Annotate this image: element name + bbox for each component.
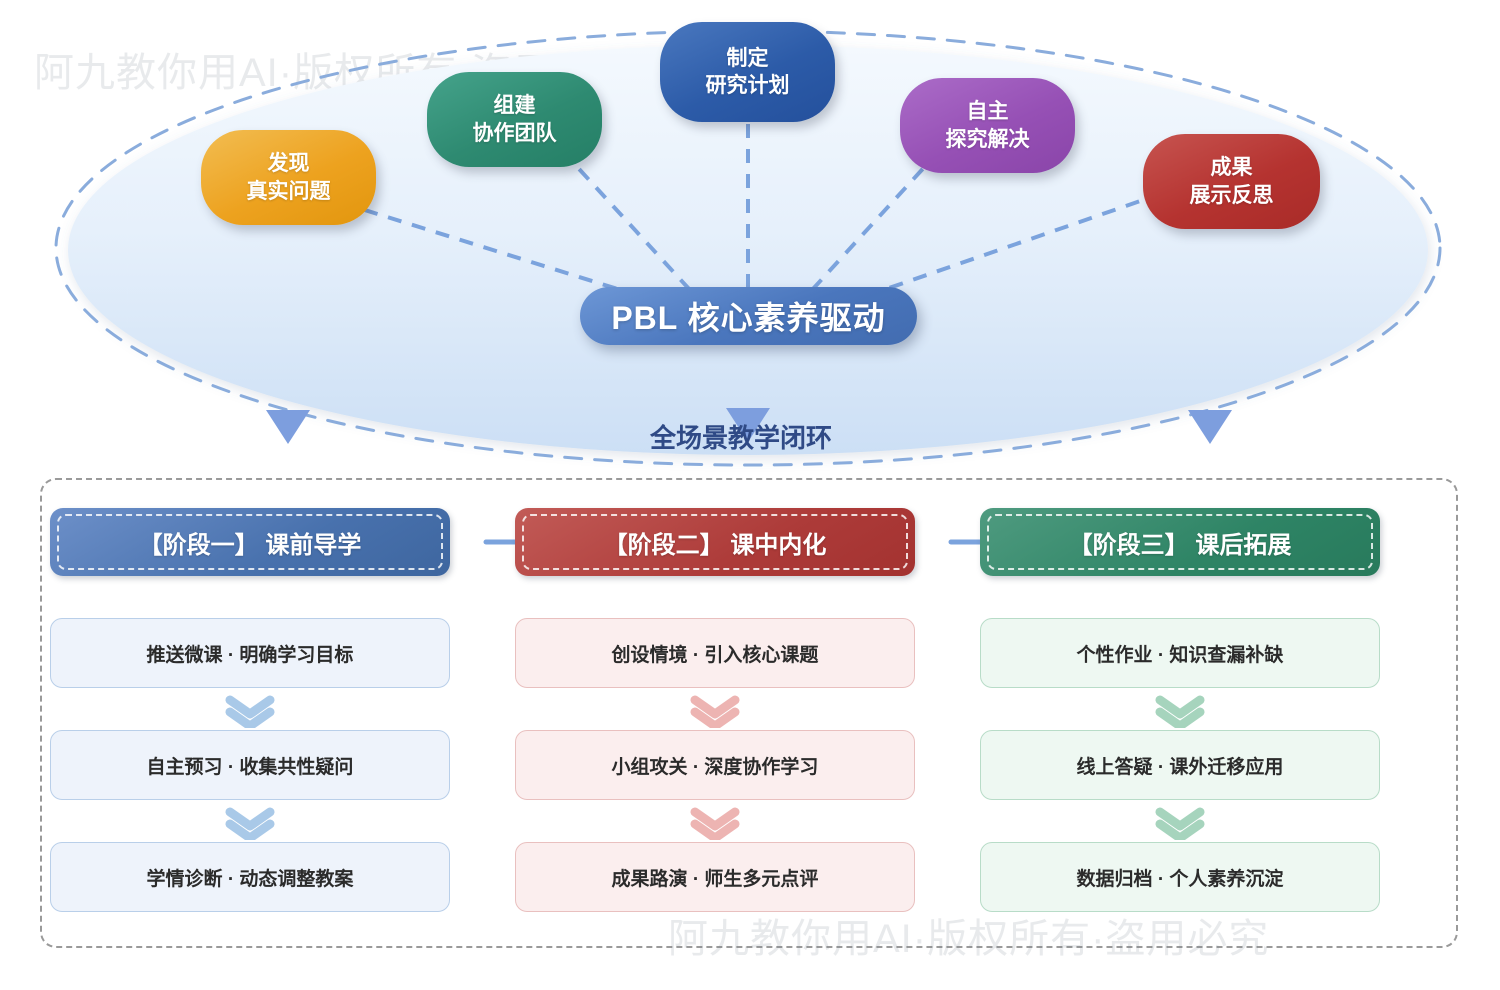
stage-header-post-class[interactable]: 【阶段三】 课后拓展 bbox=[980, 508, 1380, 576]
hub-node-showcase-line1: 成果 bbox=[1211, 154, 1253, 181]
step-post-class-3[interactable]: 数据归档 · 个人素养沉淀 bbox=[980, 842, 1380, 912]
step-in-class-1[interactable]: 创设情境 · 引入核心课题 bbox=[515, 618, 915, 688]
step-in-class-1-label: 创设情境 · 引入核心课题 bbox=[612, 640, 819, 667]
hub-center-node[interactable]: PBL 核心素养驱动 bbox=[580, 287, 917, 345]
hub-node-plan[interactable]: 制定 研究计划 bbox=[660, 22, 835, 122]
hub-node-inquiry[interactable]: 自主 探究解决 bbox=[900, 78, 1075, 173]
step-in-class-3-label: 成果路演 · 师生多元点评 bbox=[612, 864, 819, 891]
step-in-class-2-label: 小组攻关 · 深度协作学习 bbox=[612, 752, 819, 779]
chevron-down-icon bbox=[1152, 694, 1208, 728]
triangle-left bbox=[266, 410, 310, 444]
step-post-class-3-label: 数据归档 · 个人素养沉淀 bbox=[1077, 864, 1284, 891]
hub-node-plan-line2: 研究计划 bbox=[706, 72, 790, 99]
stage-header-pre-class-label: 【阶段一】 课前导学 bbox=[139, 525, 362, 560]
chevron-down-icon bbox=[222, 806, 278, 840]
step-in-class-3[interactable]: 成果路演 · 师生多元点评 bbox=[515, 842, 915, 912]
hub-node-discover[interactable]: 发现 真实问题 bbox=[201, 130, 376, 225]
stage-column-in-class: 【阶段二】 课中内化 创设情境 · 引入核心课题 小组攻关 · 深度协作学习 bbox=[515, 508, 915, 912]
chevron-down-icon bbox=[687, 694, 743, 728]
hub-node-inquiry-line2: 探究解决 bbox=[946, 126, 1030, 153]
chevron-down-icon bbox=[222, 694, 278, 728]
stage-header-pre-class[interactable]: 【阶段一】 课前导学 bbox=[50, 508, 450, 576]
hub-node-discover-line2: 真实问题 bbox=[247, 178, 331, 205]
hub-node-discover-line1: 发现 bbox=[268, 150, 310, 177]
chevron-down-icon bbox=[687, 806, 743, 840]
diagram-canvas: 阿九教你用AI·版权所有·盗用必究 bbox=[0, 0, 1500, 990]
stage-header-in-class[interactable]: 【阶段二】 课中内化 bbox=[515, 508, 915, 576]
step-pre-class-2[interactable]: 自主预习 · 收集共性疑问 bbox=[50, 730, 450, 800]
step-post-class-2[interactable]: 线上答疑 · 课外迁移应用 bbox=[980, 730, 1380, 800]
hub-node-showcase[interactable]: 成果 展示反思 bbox=[1143, 134, 1320, 229]
step-post-class-2-label: 线上答疑 · 课外迁移应用 bbox=[1077, 752, 1284, 779]
stage-column-post-class: 【阶段三】 课后拓展 个性作业 · 知识查漏补缺 线上答疑 · 课外迁移应用 bbox=[980, 508, 1380, 912]
hub-node-plan-line1: 制定 bbox=[727, 45, 769, 72]
flow-columns: 【阶段一】 课前导学 推送微课 · 明确学习目标 自主预习 · 收集共性疑问 bbox=[50, 508, 1450, 912]
hub-node-team-line2: 协作团队 bbox=[473, 120, 557, 147]
step-post-class-1-label: 个性作业 · 知识查漏补缺 bbox=[1077, 640, 1284, 667]
hub-center-label: PBL 核心素养驱动 bbox=[611, 293, 885, 339]
step-post-class-1[interactable]: 个性作业 · 知识查漏补缺 bbox=[980, 618, 1380, 688]
step-pre-class-1[interactable]: 推送微课 · 明确学习目标 bbox=[50, 618, 450, 688]
stage-column-pre-class: 【阶段一】 课前导学 推送微课 · 明确学习目标 自主预习 · 收集共性疑问 bbox=[50, 508, 450, 912]
stage-header-in-class-label: 【阶段二】 课中内化 bbox=[604, 525, 827, 560]
triangle-right bbox=[1188, 410, 1232, 444]
hub-node-showcase-line2: 展示反思 bbox=[1190, 182, 1274, 209]
loop-caption: 全场景教学闭环 bbox=[650, 418, 832, 455]
hub-node-team[interactable]: 组建 协作团队 bbox=[427, 72, 602, 167]
chevron-down-icon bbox=[1152, 806, 1208, 840]
step-pre-class-1-label: 推送微课 · 明确学习目标 bbox=[147, 640, 354, 667]
hub-node-team-line1: 组建 bbox=[494, 92, 536, 119]
step-in-class-2[interactable]: 小组攻关 · 深度协作学习 bbox=[515, 730, 915, 800]
step-pre-class-3-label: 学情诊断 · 动态调整教案 bbox=[147, 864, 354, 891]
stage-header-post-class-label: 【阶段三】 课后拓展 bbox=[1069, 525, 1292, 560]
step-pre-class-2-label: 自主预习 · 收集共性疑问 bbox=[147, 752, 354, 779]
step-pre-class-3[interactable]: 学情诊断 · 动态调整教案 bbox=[50, 842, 450, 912]
hub-node-inquiry-line1: 自主 bbox=[967, 98, 1009, 125]
